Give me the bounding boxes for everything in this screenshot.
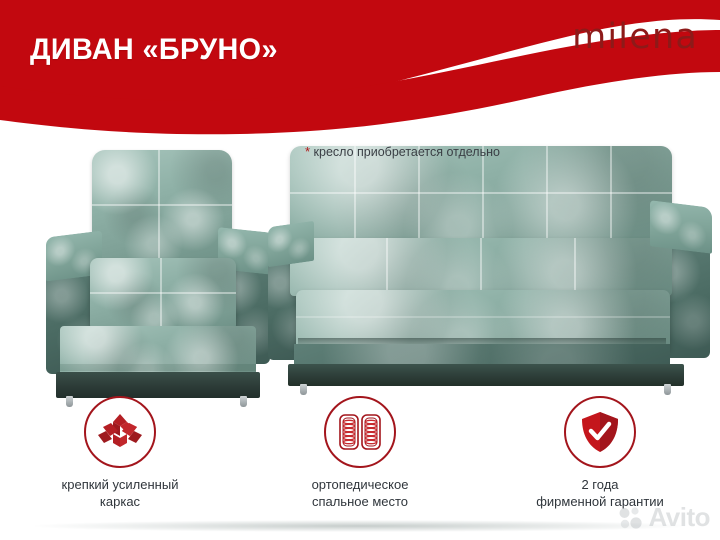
armchair-base	[56, 372, 260, 398]
floor-shadow	[35, 520, 685, 532]
note-text: кресло приобретается отдельно	[310, 145, 500, 159]
chair-sold-separately-note: * кресло приобретается отдельно	[305, 144, 500, 159]
sofa-backrest	[290, 146, 672, 242]
product-photo: * кресло приобретается отдельно	[0, 128, 720, 413]
sofa-leg-right	[664, 384, 671, 395]
armchair-front-panel	[60, 326, 256, 378]
sofa-left-armrest	[268, 221, 314, 267]
spring-block-icon	[338, 412, 382, 452]
armchair-backrest	[92, 150, 232, 262]
shield-check-icon	[579, 410, 621, 454]
feature-item-warranty: 2 года фирменной гарантии	[480, 396, 720, 516]
feature-label: крепкий усиленный каркас	[62, 477, 179, 510]
feature-icon-circle	[564, 396, 636, 468]
feature-icon-circle	[84, 396, 156, 468]
header-banner: ДИВАН «БРУНО» milena	[0, 0, 720, 140]
brand-logo: milena	[572, 20, 698, 55]
reinforced-frame-icon	[97, 412, 143, 452]
feature-item-orthopedic: ортопедическое спальное место	[240, 396, 480, 516]
page-title: ДИВАН «БРУНО»	[30, 33, 278, 67]
feature-item-frame: крепкий усиленный каркас	[0, 396, 240, 516]
sofa-right-armrest	[650, 200, 712, 254]
armchair-seat-cushion	[90, 258, 236, 330]
product-banner-image: ДИВАН «БРУНО» milena * кресло приобретае…	[0, 0, 720, 540]
armchair	[42, 150, 272, 418]
feature-list: крепкий усиленный каркас	[0, 396, 720, 516]
feature-label: 2 года фирменной гарантии	[536, 477, 664, 510]
sofa	[268, 146, 713, 396]
feature-icon-circle	[324, 396, 396, 468]
sofa-mid-section	[290, 238, 672, 296]
sofa-leg-left	[300, 384, 307, 395]
feature-label: ортопедическое спальное место	[312, 477, 409, 510]
sofa-base	[288, 364, 684, 386]
